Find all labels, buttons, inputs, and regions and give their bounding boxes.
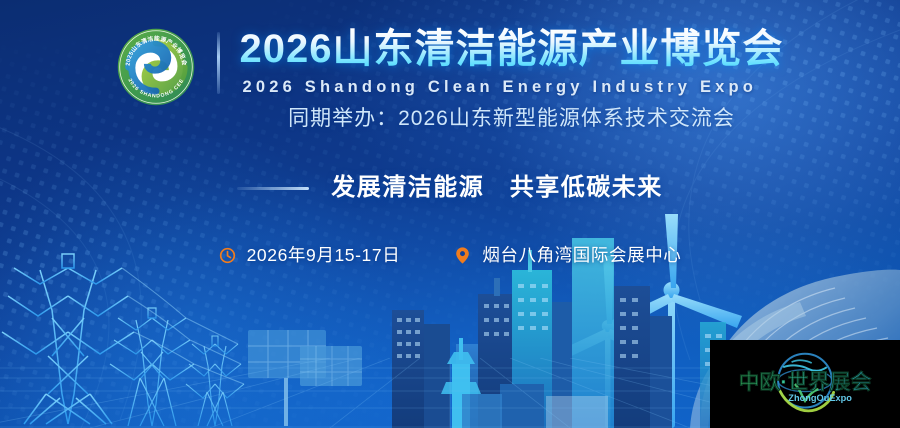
- title-english: 2026 Shandong Clean Energy Industry Expo: [240, 76, 758, 98]
- expo-banner: 2025山东清洁能源产业博览会 2026 SHANDONG CEE 2026山东…: [0, 0, 900, 428]
- clock-icon: [219, 246, 236, 265]
- solar-panel-left: [248, 330, 326, 426]
- expo-emblem-icon: 2025山东清洁能源产业博览会 2026 SHANDONG CEE: [117, 28, 195, 106]
- event-date-text: 2026年9月15-17日: [247, 243, 401, 267]
- slogan-text: 发展清洁能源 共享低碳未来: [331, 172, 663, 204]
- slogan-rule: [237, 187, 309, 190]
- slogan-row: 发展清洁能源 共享低碳未来: [0, 172, 900, 204]
- title-chinese: 2026山东清洁能源产业博览会: [240, 26, 784, 72]
- banner-header: 2025山东清洁能源产业博览会 2026 SHANDONG CEE 2026山东…: [0, 26, 900, 133]
- location-pin-icon: [454, 246, 471, 265]
- event-date: 2026年9月15-17日: [219, 243, 401, 267]
- watermark-logo: 中欧·世界展会 ZhongOuExpo: [710, 340, 900, 428]
- header-divider: [217, 32, 220, 94]
- watermark-text-en: ZhongOuExpo: [788, 393, 852, 403]
- power-lines: [122, 268, 244, 384]
- watermark-text-cn: 中欧·世界展会: [739, 370, 872, 394]
- transmission-tower-small: [186, 336, 244, 426]
- event-venue-text: 烟台八角湾国际会展中心: [482, 243, 681, 267]
- event-meta-row: 2026年9月15-17日 烟台八角湾国际会展中心: [0, 243, 900, 267]
- transmission-tower-mid: [110, 308, 194, 426]
- subtitle-concurrent-event: 同期举办：2026山东新型能源体系技术交流会: [288, 105, 735, 133]
- event-venue: 烟台八角湾国际会展中心: [454, 243, 681, 267]
- title-group: 2026山东清洁能源产业博览会 2026 Shandong Clean Ener…: [240, 26, 784, 133]
- transmission-tower-large: [2, 254, 134, 424]
- wind-turbine-small: [552, 256, 664, 428]
- tv-tower: [441, 338, 481, 428]
- solar-panel-mid: [300, 346, 362, 386]
